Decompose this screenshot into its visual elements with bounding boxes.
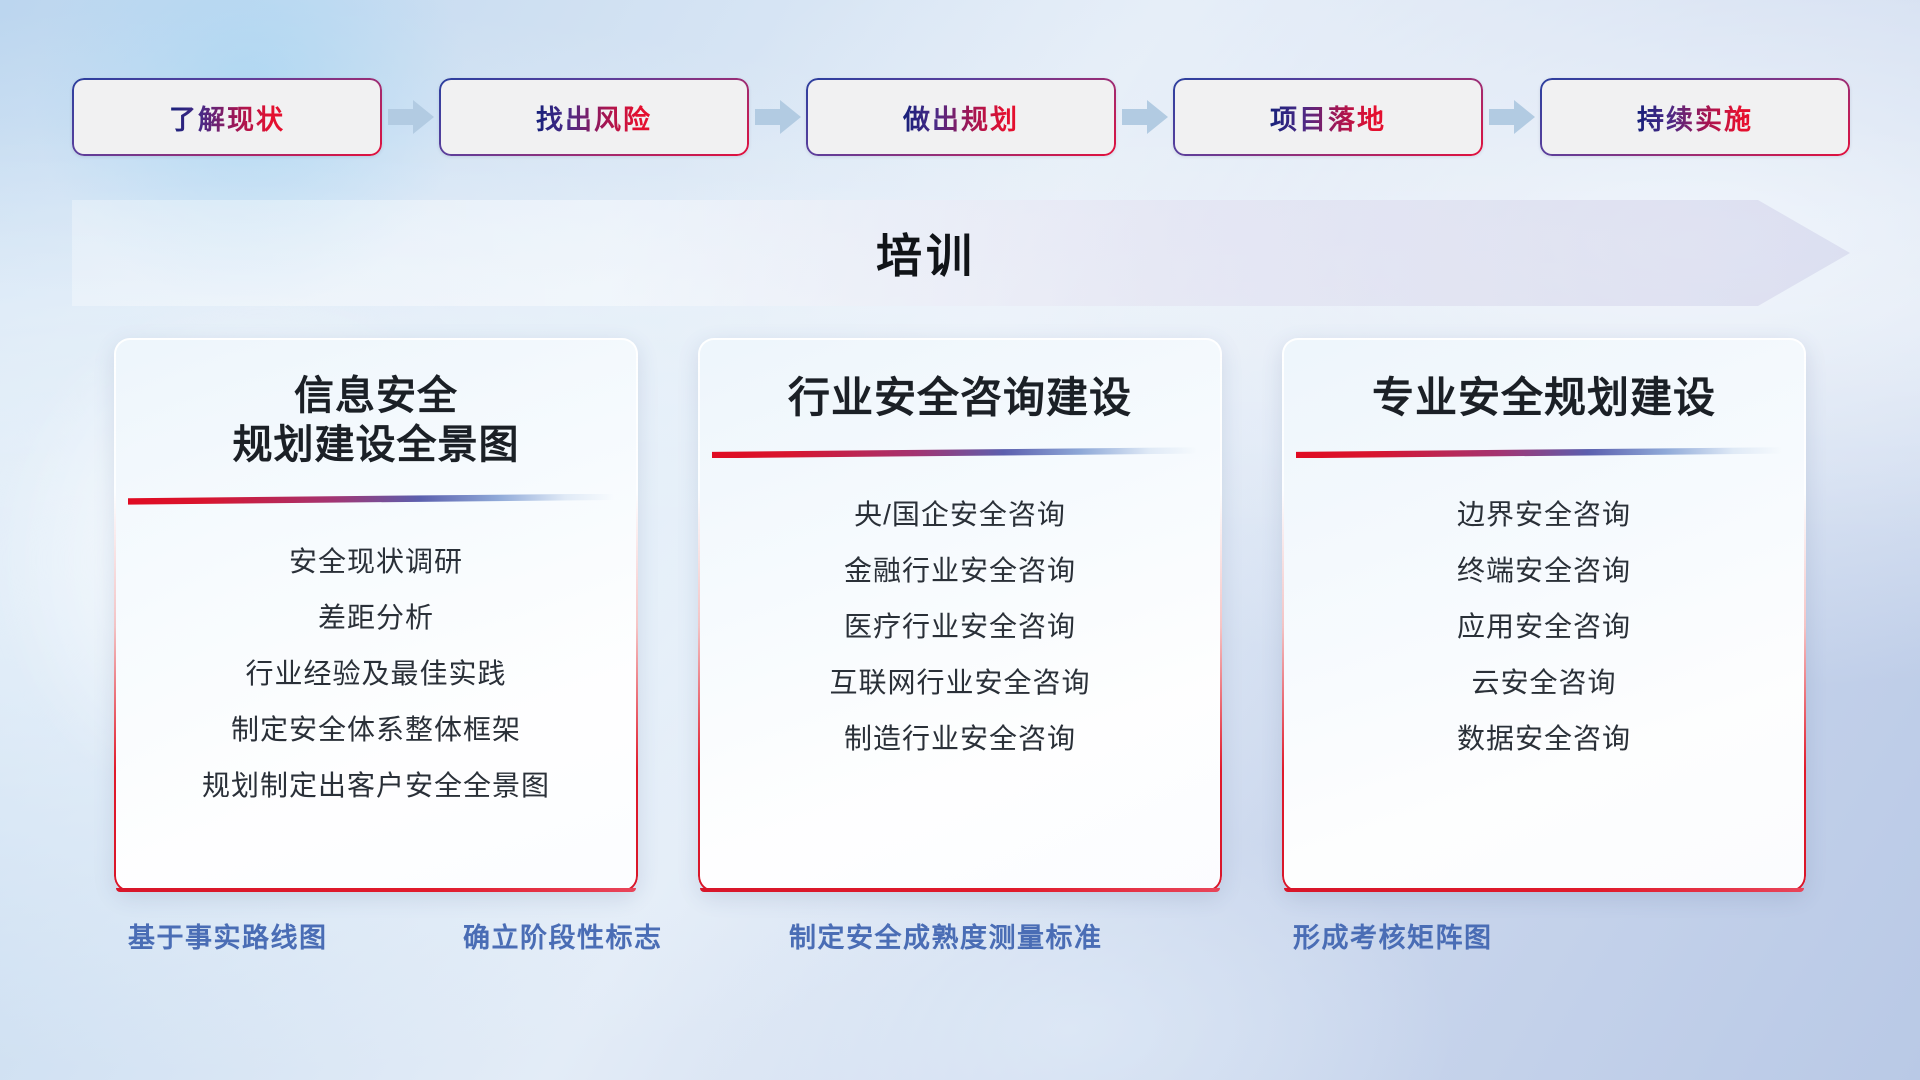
list-item: 金融行业安全咨询 <box>844 550 1076 592</box>
training-banner: 培训 <box>72 200 1850 306</box>
card-item-list: 安全现状调研 差距分析 行业经验及最佳实践 制定安全体系整体框架 规划制定出客户… <box>114 541 638 807</box>
list-item: 边界安全咨询 <box>1457 494 1631 536</box>
step-label-1: 了解现状 <box>169 98 285 137</box>
card-professional-security-planning[interactable]: 专业安全规划建设 边界安全咨询 终端安全咨询 应用安全咨询 云安全咨询 数据安全… <box>1282 338 1806 892</box>
card-group: 信息安全 规划建设全景图 安全现状调研 差距分析 行业经验及最佳实践 制定安全体… <box>114 338 1806 892</box>
step-box-2[interactable]: 找出风险 <box>439 78 749 156</box>
list-item: 制造行业安全咨询 <box>844 718 1076 760</box>
card-title: 信息安全 规划建设全景图 <box>144 372 608 470</box>
list-item: 安全现状调研 <box>289 541 463 583</box>
card-item-list: 央/国企安全咨询 金融行业安全咨询 医疗行业安全咨询 互联网行业安全咨询 制造行… <box>698 494 1222 760</box>
step-label-5: 持续实施 <box>1637 98 1753 137</box>
footnote-2: 确立阶段性标志 <box>463 916 663 955</box>
card-divider <box>1296 447 1782 458</box>
card-header: 信息安全 规划建设全景图 <box>114 338 638 470</box>
list-item: 差距分析 <box>318 597 434 639</box>
list-item: 互联网行业安全咨询 <box>829 662 1090 704</box>
list-item: 医疗行业安全咨询 <box>844 606 1076 648</box>
process-step-flow: 了解现状 找出风险 做出规划 项目落地 持续实施 <box>72 78 1850 156</box>
step-box-5[interactable]: 持续实施 <box>1540 78 1850 156</box>
footnote-row: 基于事实路线图 确立阶段性标志 制定安全成熟度测量标准 形成考核矩阵图 <box>0 916 1920 976</box>
list-item: 云安全咨询 <box>1471 662 1616 704</box>
list-item: 央/国企安全咨询 <box>854 494 1066 536</box>
card-divider <box>128 494 614 505</box>
card-title: 专业安全规划建设 <box>1312 372 1776 423</box>
list-item: 数据安全咨询 <box>1457 718 1631 760</box>
right-arrow-icon <box>755 98 801 136</box>
step-label-4: 项目落地 <box>1270 98 1386 137</box>
step-label-3: 做出规划 <box>903 98 1019 137</box>
footnote-3: 制定安全成熟度测量标准 <box>789 916 1103 955</box>
list-item: 行业经验及最佳实践 <box>245 653 506 695</box>
step-box-3[interactable]: 做出规划 <box>806 78 1116 156</box>
step-label-2: 找出风险 <box>536 98 652 137</box>
card-information-security-blueprint[interactable]: 信息安全 规划建设全景图 安全现状调研 差距分析 行业经验及最佳实践 制定安全体… <box>114 338 638 892</box>
list-item: 制定安全体系整体框架 <box>231 709 521 751</box>
card-divider <box>712 447 1198 458</box>
right-arrow-icon <box>1122 98 1168 136</box>
card-header: 行业安全咨询建设 <box>698 338 1222 423</box>
list-item: 应用安全咨询 <box>1457 606 1631 648</box>
card-header: 专业安全规划建设 <box>1282 338 1806 423</box>
right-arrow-icon <box>1489 98 1535 136</box>
footnote-4: 形成考核矩阵图 <box>1293 916 1493 955</box>
training-banner-title: 培训 <box>72 200 1850 306</box>
list-item: 规划制定出客户安全全景图 <box>202 765 550 807</box>
card-title: 行业安全咨询建设 <box>728 372 1192 423</box>
step-box-1[interactable]: 了解现状 <box>72 78 382 156</box>
footnote-1: 基于事实路线图 <box>128 916 328 955</box>
card-industry-security-consulting[interactable]: 行业安全咨询建设 央/国企安全咨询 金融行业安全咨询 医疗行业安全咨询 互联网行… <box>698 338 1222 892</box>
right-arrow-icon <box>388 98 434 136</box>
list-item: 终端安全咨询 <box>1457 550 1631 592</box>
card-item-list: 边界安全咨询 终端安全咨询 应用安全咨询 云安全咨询 数据安全咨询 <box>1282 494 1806 760</box>
step-box-4[interactable]: 项目落地 <box>1173 78 1483 156</box>
